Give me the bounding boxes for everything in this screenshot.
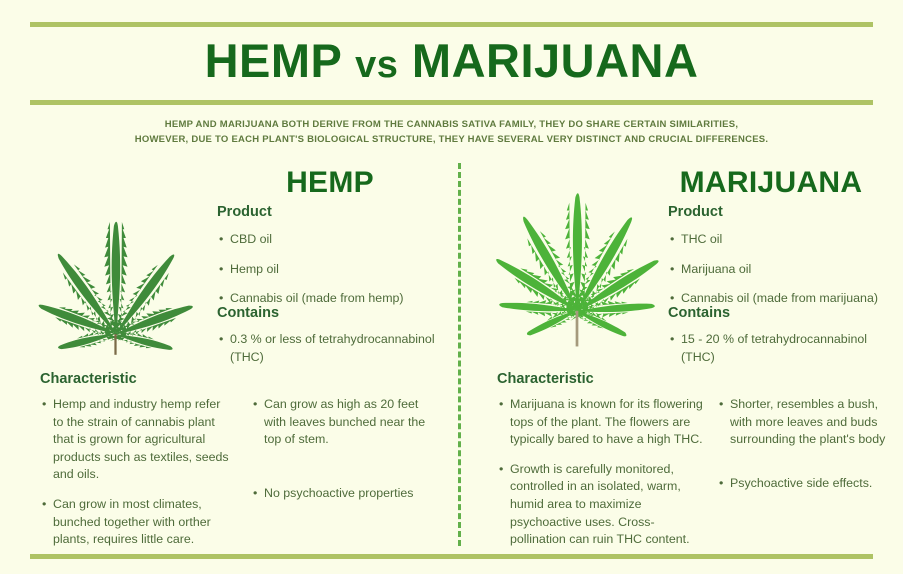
hemp-contains-title: Contains: [217, 305, 279, 321]
marijuana-product-list: THC oil Marijuana oil Cannabis oil (made…: [670, 231, 895, 308]
hemp-product-title: Product: [217, 204, 272, 220]
marijuana-product-title: Product: [668, 204, 723, 220]
list-item: Hemp and industry hemp refer to the stra…: [42, 396, 232, 484]
marijuana-characteristic-list-left: Marijuana is known for its flowering top…: [499, 396, 709, 549]
marijuana-characteristic-title: Characteristic: [497, 371, 594, 387]
hemp-cannabis-leaf-icon: [28, 198, 203, 358]
list-item: 0.3 % or less of tetrahydrocannabinol (T…: [219, 331, 439, 366]
subtitle-line-1: HEMP AND MARIJUANA BOTH DERIVE FROM THE …: [0, 118, 903, 133]
list-item: No psychoactive properties: [253, 485, 428, 503]
list-item: Can grow in most climates, bunched toget…: [42, 496, 232, 549]
title-hemp: HEMP: [205, 34, 342, 87]
subtitle-line-2: HOWEVER, DUE TO EACH PLANT'S BIOLOGICAL …: [0, 133, 903, 148]
hemp-product-list: CBD oil Hemp oil Cannabis oil (made from…: [219, 231, 444, 308]
hemp-contains-list: 0.3 % or less of tetrahydrocannabinol (T…: [219, 331, 439, 366]
hemp-characteristic-list-left: Hemp and industry hemp refer to the stra…: [42, 396, 232, 549]
divider-rule-bottom: [30, 554, 873, 559]
vertical-dashed-divider: [458, 163, 461, 546]
hemp-characteristic-list-right: Can grow as high as 20 feet with leaves …: [253, 396, 428, 502]
marijuana-contains-list: 15 - 20 % of tetrahydrocannabinol (THC): [670, 331, 885, 366]
marijuana-column-heading: MARIJUANA: [655, 166, 887, 200]
marijuana-characteristic-list-right: Shorter, resembles a bush, with more lea…: [719, 396, 894, 492]
marijuana-contains-title: Contains: [668, 305, 730, 321]
infographic-page: HEMP vs MARIJUANA HEMP AND MARIJUANA BOT…: [0, 0, 903, 574]
list-item: Marijuana is known for its flowering top…: [499, 396, 709, 449]
hemp-characteristic-title: Characteristic: [40, 371, 137, 387]
title-marijuana: MARIJUANA: [412, 34, 699, 87]
list-item: THC oil: [670, 231, 895, 249]
list-item: Marijuana oil: [670, 261, 895, 279]
list-item: CBD oil: [219, 231, 444, 249]
page-title: HEMP vs MARIJUANA: [0, 36, 903, 86]
list-item: Can grow as high as 20 feet with leaves …: [253, 396, 428, 449]
list-item: 15 - 20 % of tetrahydrocannabinol (THC): [670, 331, 885, 366]
hemp-column-heading: HEMP: [215, 166, 445, 200]
list-item: Growth is carefully monitored, controlle…: [499, 461, 709, 549]
divider-rule-under-title: [30, 100, 873, 105]
list-item: Psychoactive side effects.: [719, 475, 894, 493]
list-item: Hemp oil: [219, 261, 444, 279]
title-vs: vs: [355, 44, 398, 86]
divider-rule-top: [30, 22, 873, 27]
list-item: Shorter, resembles a bush, with more lea…: [719, 396, 894, 449]
subtitle: HEMP AND MARIJUANA BOTH DERIVE FROM THE …: [0, 118, 903, 147]
marijuana-cannabis-leaf-icon: [492, 178, 662, 350]
